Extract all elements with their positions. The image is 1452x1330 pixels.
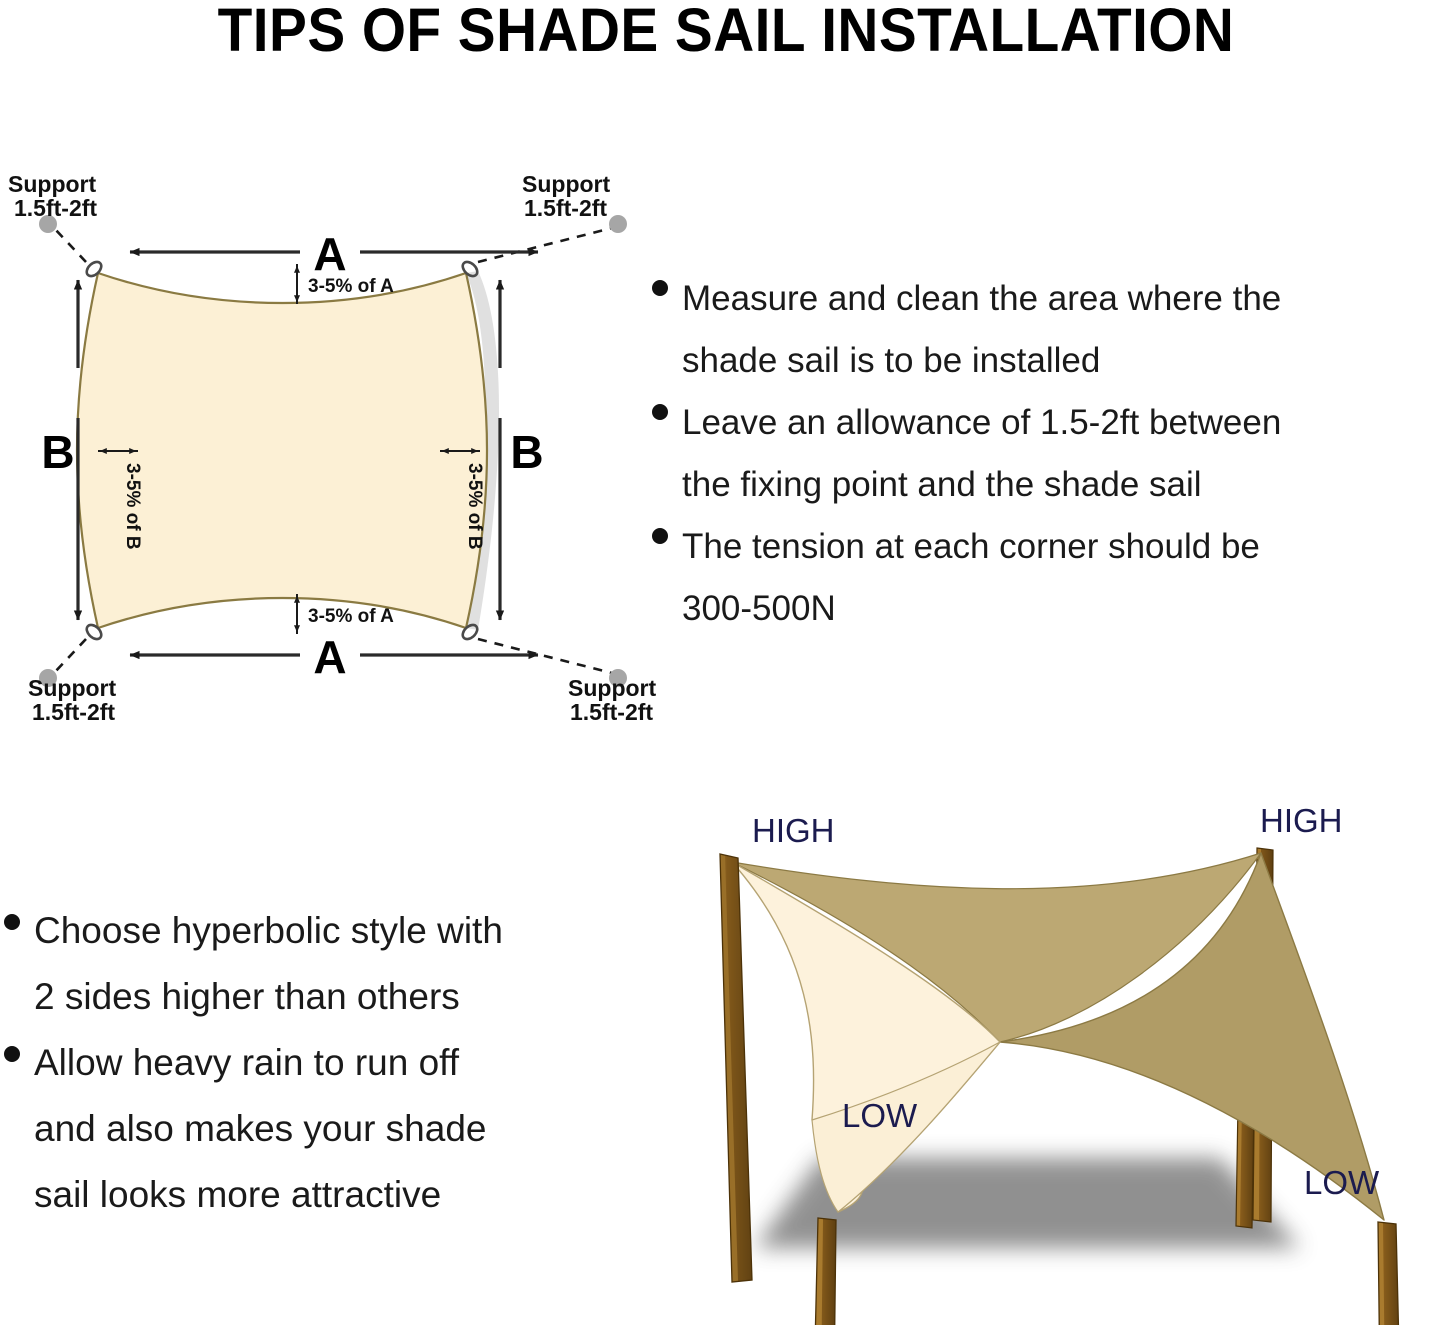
list-item-line: sail looks more attractive [34,1162,487,1228]
post-low-left [814,1218,836,1325]
support-label-bottom-right-line1: Support [568,675,656,701]
bullet-dot-icon [4,914,20,930]
list-item-line: shade sail is to be installed [682,330,1281,392]
list-item-text: Choose hyperbolic style with 2 sides hig… [34,898,503,1030]
bullet-dot-icon [652,528,668,544]
list-item: Allow heavy rain to run off and also mak… [4,1030,634,1228]
post-low-right [1378,1222,1400,1325]
list-item-line: Measure and clean the area where the [682,268,1281,330]
list-item-line: Allow heavy rain to run off [34,1030,487,1096]
label-high-right: HIGH [1260,802,1343,839]
rectangular-sail-diagram: A A B B 3-5% of A [0,168,660,738]
label-low-right: LOW [1304,1164,1380,1201]
post-high-left [720,854,752,1282]
dimension-label-b-left: B [41,426,74,478]
list-item-line: Leave an allowance of 1.5-2ft between [682,392,1281,454]
list-item-line: and also makes your shade [34,1096,487,1162]
list-item: Measure and clean the area where the sha… [652,268,1452,392]
support-dot-top-right [609,215,627,233]
hyperbolic-sail-diagram: HIGH HIGH LOW LOW [660,790,1452,1325]
dimension-label-a-bottom: A [313,631,346,683]
list-item-line: The tension at each corner should be [682,516,1260,578]
list-item-text: Leave an allowance of 1.5-2ft between th… [682,392,1281,516]
list-item: Choose hyperbolic style with 2 sides hig… [4,898,634,1030]
list-item-text: Allow heavy rain to run off and also mak… [34,1030,487,1228]
support-label-top-right-line2: 1.5ft-2ft [524,195,607,221]
dash-top-right [478,228,612,262]
page-title: TIPS OF SHADE SAIL INSTALLATION [51,0,1401,62]
list-item-line: 300-500N [682,578,1260,640]
dimension-label-b-right: B [510,426,543,478]
support-label-top-right-line1: Support [522,171,610,197]
list-item-text: Measure and clean the area where the sha… [682,268,1281,392]
support-label-bottom-left-line2: 1.5ft-2ft [32,699,115,725]
list-item-line: 2 sides higher than others [34,964,503,1030]
curve-depth-label-left: 3-5% of B [122,463,143,550]
dash-bottom-left [54,639,86,673]
bullet-dot-icon [4,1046,20,1062]
support-label-top-left-line1: Support [8,171,96,197]
support-label-bottom-left-line1: Support [28,675,116,701]
curve-depth-label-top: 3-5% of A [308,276,394,297]
support-label-top-left-line2: 1.5ft-2ft [14,195,97,221]
label-high-left: HIGH [752,812,835,849]
tips-list-left: Choose hyperbolic style with 2 sides hig… [4,898,634,1228]
shade-sail-shape [77,273,487,628]
list-item-text: The tension at each corner should be 300… [682,516,1260,640]
list-item: The tension at each corner should be 300… [652,516,1452,640]
tips-list-right: Measure and clean the area where the sha… [652,268,1452,640]
list-item-line: the fixing point and the shade sail [682,454,1281,516]
bullet-dot-icon [652,404,668,420]
dimension-label-a-top: A [313,228,346,280]
list-item: Leave an allowance of 1.5-2ft between th… [652,392,1452,516]
dash-top-left [54,228,86,262]
bullet-dot-icon [652,280,668,296]
curve-depth-label-bottom: 3-5% of A [308,606,394,627]
label-low-left: LOW [842,1097,918,1134]
support-label-bottom-right-line2: 1.5ft-2ft [570,699,653,725]
list-item-line: Choose hyperbolic style with [34,898,503,964]
curve-depth-label-right: 3-5% of B [464,463,485,550]
